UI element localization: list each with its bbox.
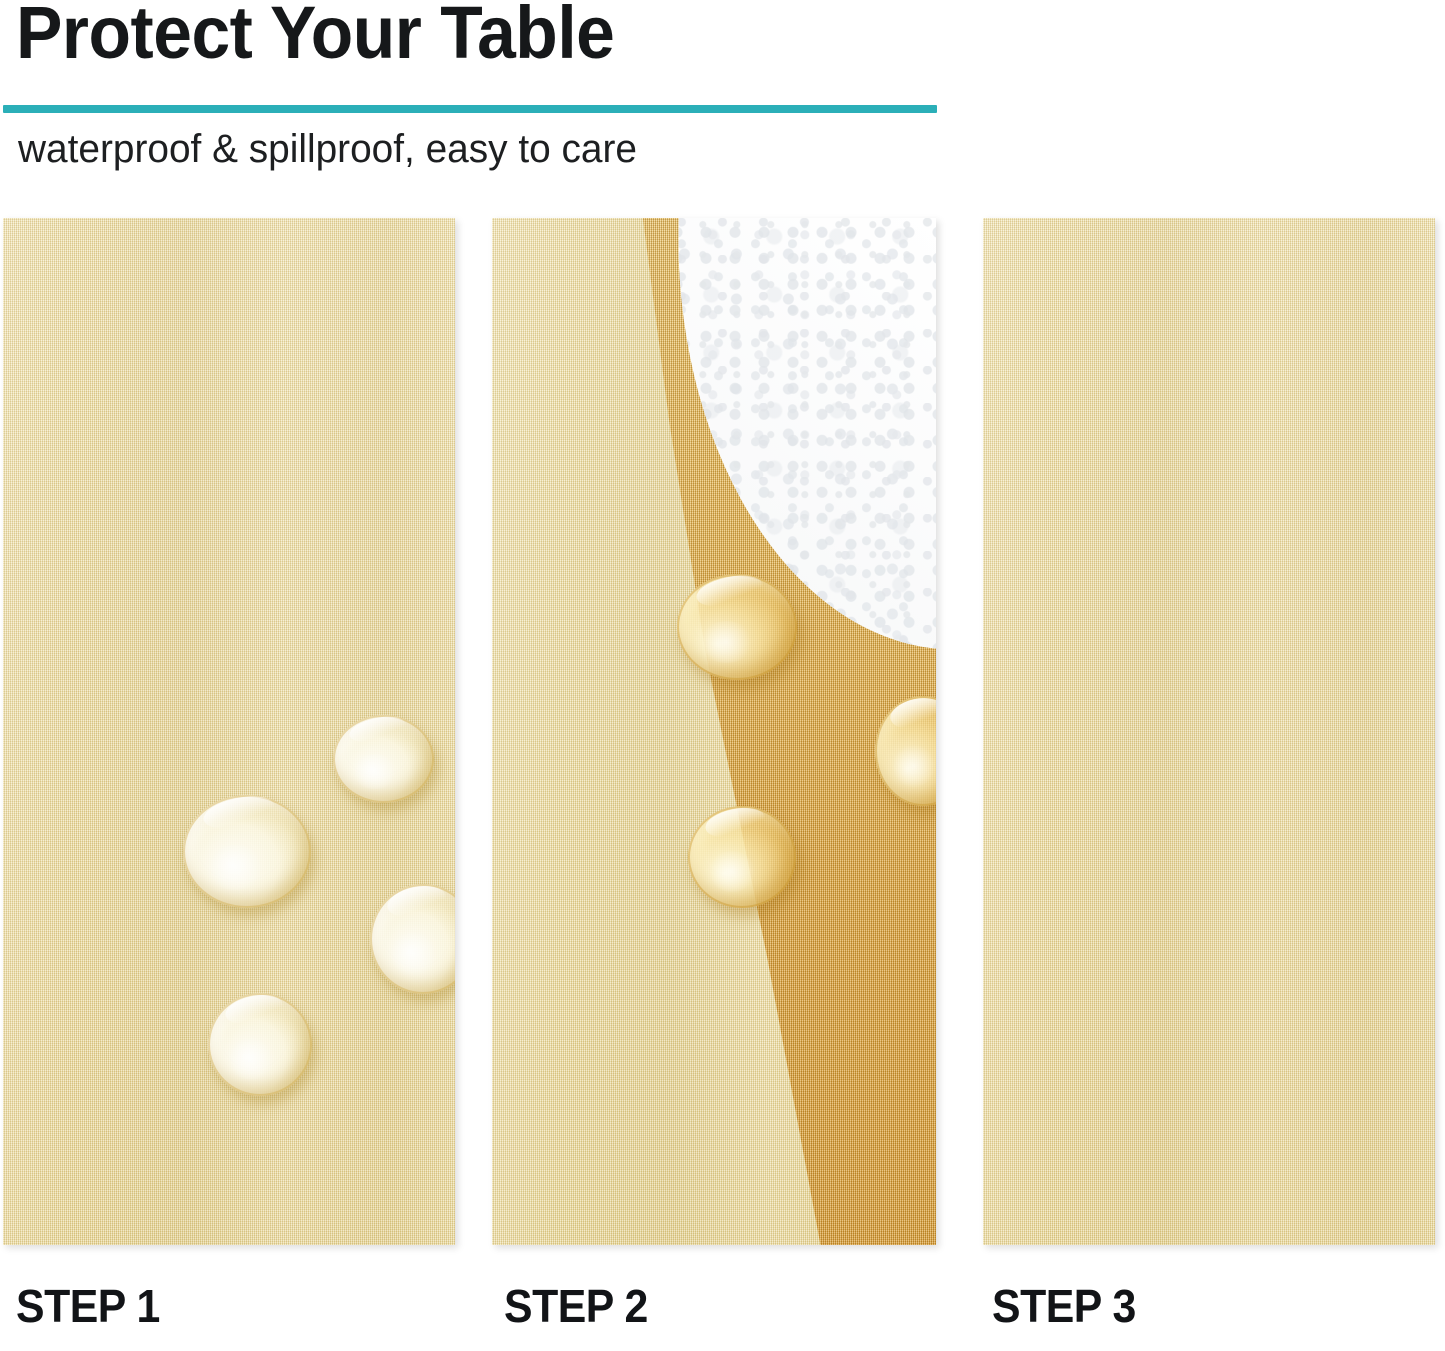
fabric-surface-clean: [983, 218, 1435, 1245]
panel-step-3-image: [983, 218, 1435, 1245]
panel-strip: [0, 218, 1445, 1245]
header: Protect Your Table waterproof & spillpro…: [0, 0, 1445, 200]
title-divider-rule: [3, 105, 937, 113]
droplet-inner-glow-icon: [699, 621, 754, 663]
step-caption-row: STEP 1 STEP 2 STEP 3: [0, 1283, 1445, 1351]
page-subtitle: waterproof & spillproof, easy to care: [18, 128, 637, 170]
water-droplet: [688, 806, 796, 908]
droplet-inner-glow-icon: [206, 845, 265, 890]
droplet-inner-glow-icon: [227, 1038, 275, 1079]
step-label-3: STEP 3: [992, 1283, 1136, 1329]
droplet-inner-glow-icon: [707, 851, 757, 892]
water-droplet: [183, 795, 311, 908]
water-droplet: [677, 574, 797, 680]
step-label-1: STEP 1: [16, 1283, 160, 1329]
droplet-inner-glow-icon: [389, 932, 438, 976]
step-label-2: STEP 2: [504, 1283, 648, 1329]
water-droplet: [208, 993, 312, 1096]
page-title: Protect Your Table: [16, 0, 614, 70]
panel-step-2-image: [492, 218, 936, 1245]
droplet-inner-glow-icon: [892, 744, 936, 788]
water-droplet: [333, 715, 434, 803]
droplet-inner-glow-icon: [351, 754, 397, 789]
panel-step-1-image: [3, 218, 455, 1245]
